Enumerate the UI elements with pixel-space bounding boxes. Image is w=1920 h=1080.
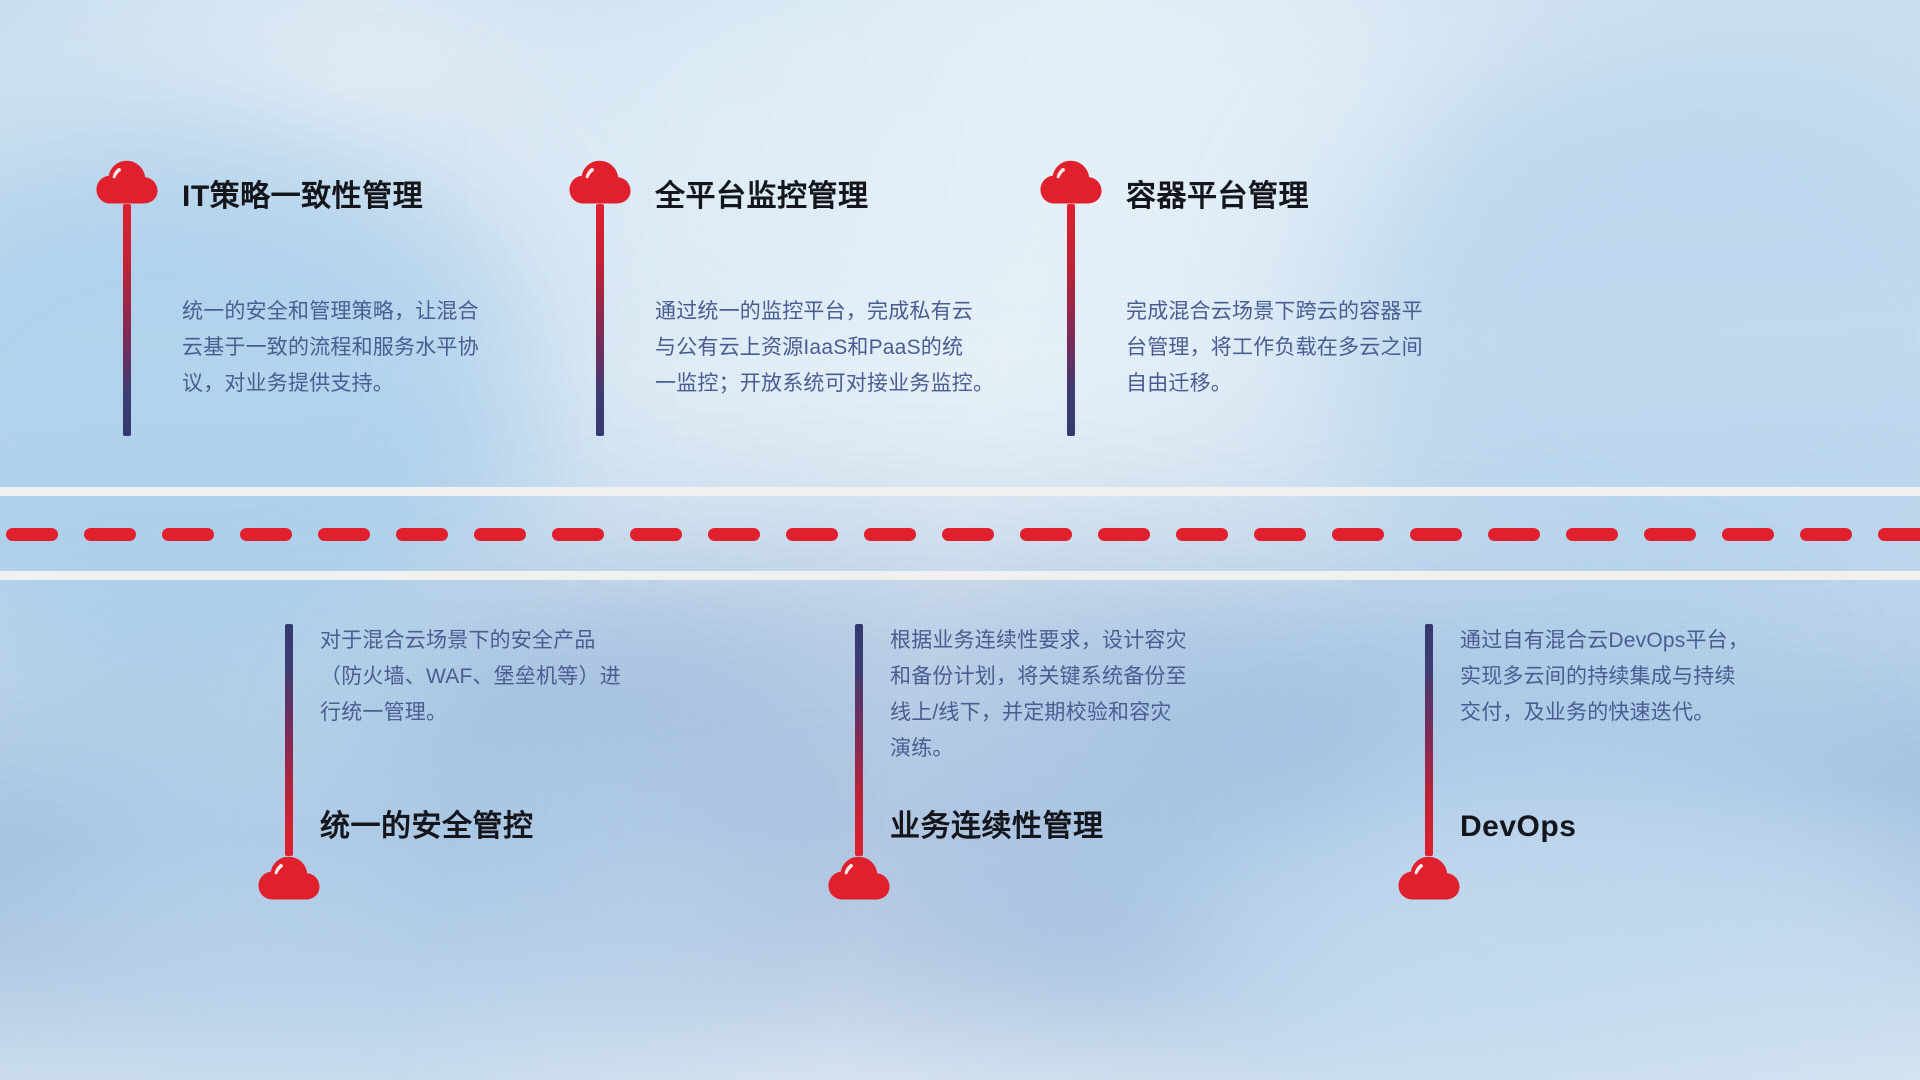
divider-dash <box>786 528 838 541</box>
divider-dash <box>240 528 292 541</box>
item-description: 统一的安全和管理策略，让混合 云基于一致的流程和服务水平协 议，对业务提供支持。 <box>182 294 554 402</box>
divider-dash <box>84 528 136 541</box>
pin-stem <box>285 624 293 856</box>
divider-dash <box>1098 528 1150 541</box>
pin-marker <box>258 624 320 900</box>
cloud-icon <box>569 160 631 204</box>
divider-line-bottom <box>0 571 1920 580</box>
pin-stem <box>1425 624 1433 856</box>
top-item-1: IT策略一致性管理 统一的安全和管理策略，让混合 云基于一致的流程和服务水平协 … <box>96 160 158 436</box>
pin-marker <box>1398 624 1460 900</box>
pin-marker <box>569 160 631 436</box>
divider-dash <box>864 528 916 541</box>
item-description: 完成混合云场景下跨云的容器平 台管理，将工作负载在多云之间 自由迁移。 <box>1126 294 1506 402</box>
divider-dash <box>1332 528 1384 541</box>
top-item-3: 容器平台管理 完成混合云场景下跨云的容器平 台管理，将工作负载在多云之间 自由迁… <box>1040 160 1102 436</box>
divider-dash <box>1878 528 1920 541</box>
item-title: DevOps <box>1460 812 1576 842</box>
divider-dash <box>1566 528 1618 541</box>
item-description: 通过自有混合云DevOps平台， 实现多云间的持续集成与持续 交付，及业务的快速… <box>1460 623 1840 731</box>
cloud-icon <box>828 856 890 900</box>
cloud-icon <box>96 160 158 204</box>
divider-dash <box>1488 528 1540 541</box>
divider-dash <box>1176 528 1228 541</box>
cloud-icon <box>1398 856 1460 900</box>
divider-dash <box>630 528 682 541</box>
pin-marker <box>828 624 890 900</box>
item-title: IT策略一致性管理 <box>182 182 423 212</box>
divider-dash <box>1644 528 1696 541</box>
item-title: 容器平台管理 <box>1126 182 1309 212</box>
cloud-icon <box>258 856 320 900</box>
divider-dash <box>942 528 994 541</box>
pin-stem <box>855 624 863 856</box>
divider-dash <box>396 528 448 541</box>
divider-dash <box>318 528 370 541</box>
divider-dash <box>1722 528 1774 541</box>
divider-dash <box>1254 528 1306 541</box>
cloud-icon <box>1040 160 1102 204</box>
divider-dash <box>162 528 214 541</box>
item-description: 对于混合云场景下的安全产品 （防火墙、WAF、堡垒机等）进 行统一管理。 <box>320 623 692 731</box>
item-title: 业务连续性管理 <box>890 812 1104 842</box>
pin-marker <box>96 160 158 436</box>
divider-dash <box>552 528 604 541</box>
item-title: 统一的安全管控 <box>320 812 534 842</box>
divider-dash <box>708 528 760 541</box>
highway-divider <box>0 487 1920 581</box>
item-title: 全平台监控管理 <box>655 182 869 212</box>
bottom-item-2: 根据业务连续性要求，设计容灾 和备份计划，将关键系统备份至 线上/线下，并定期校… <box>828 624 890 900</box>
pin-stem <box>123 204 131 436</box>
item-description: 通过统一的监控平台，完成私有云 与公有云上资源IaaS和PaaS的统 一监控；开… <box>655 294 1055 402</box>
divider-line-top <box>0 487 1920 496</box>
pin-marker <box>1040 160 1102 436</box>
top-item-2: 全平台监控管理 通过统一的监控平台，完成私有云 与公有云上资源IaaS和PaaS… <box>569 160 631 436</box>
divider-dash <box>1020 528 1072 541</box>
bottom-item-1: 对于混合云场景下的安全产品 （防火墙、WAF、堡垒机等）进 行统一管理。 统一的… <box>258 624 320 900</box>
divider-dashes <box>0 528 1920 541</box>
pin-stem <box>1067 204 1075 436</box>
bottom-item-3: 通过自有混合云DevOps平台， 实现多云间的持续集成与持续 交付，及业务的快速… <box>1398 624 1460 900</box>
divider-dash <box>1800 528 1852 541</box>
pin-stem <box>596 204 604 436</box>
divider-dash <box>6 528 58 541</box>
divider-dash <box>474 528 526 541</box>
infographic-canvas: IT策略一致性管理 统一的安全和管理策略，让混合 云基于一致的流程和服务水平协 … <box>0 0 1920 1080</box>
item-description: 根据业务连续性要求，设计容灾 和备份计划，将关键系统备份至 线上/线下，并定期校… <box>890 623 1290 767</box>
divider-dash <box>1410 528 1462 541</box>
